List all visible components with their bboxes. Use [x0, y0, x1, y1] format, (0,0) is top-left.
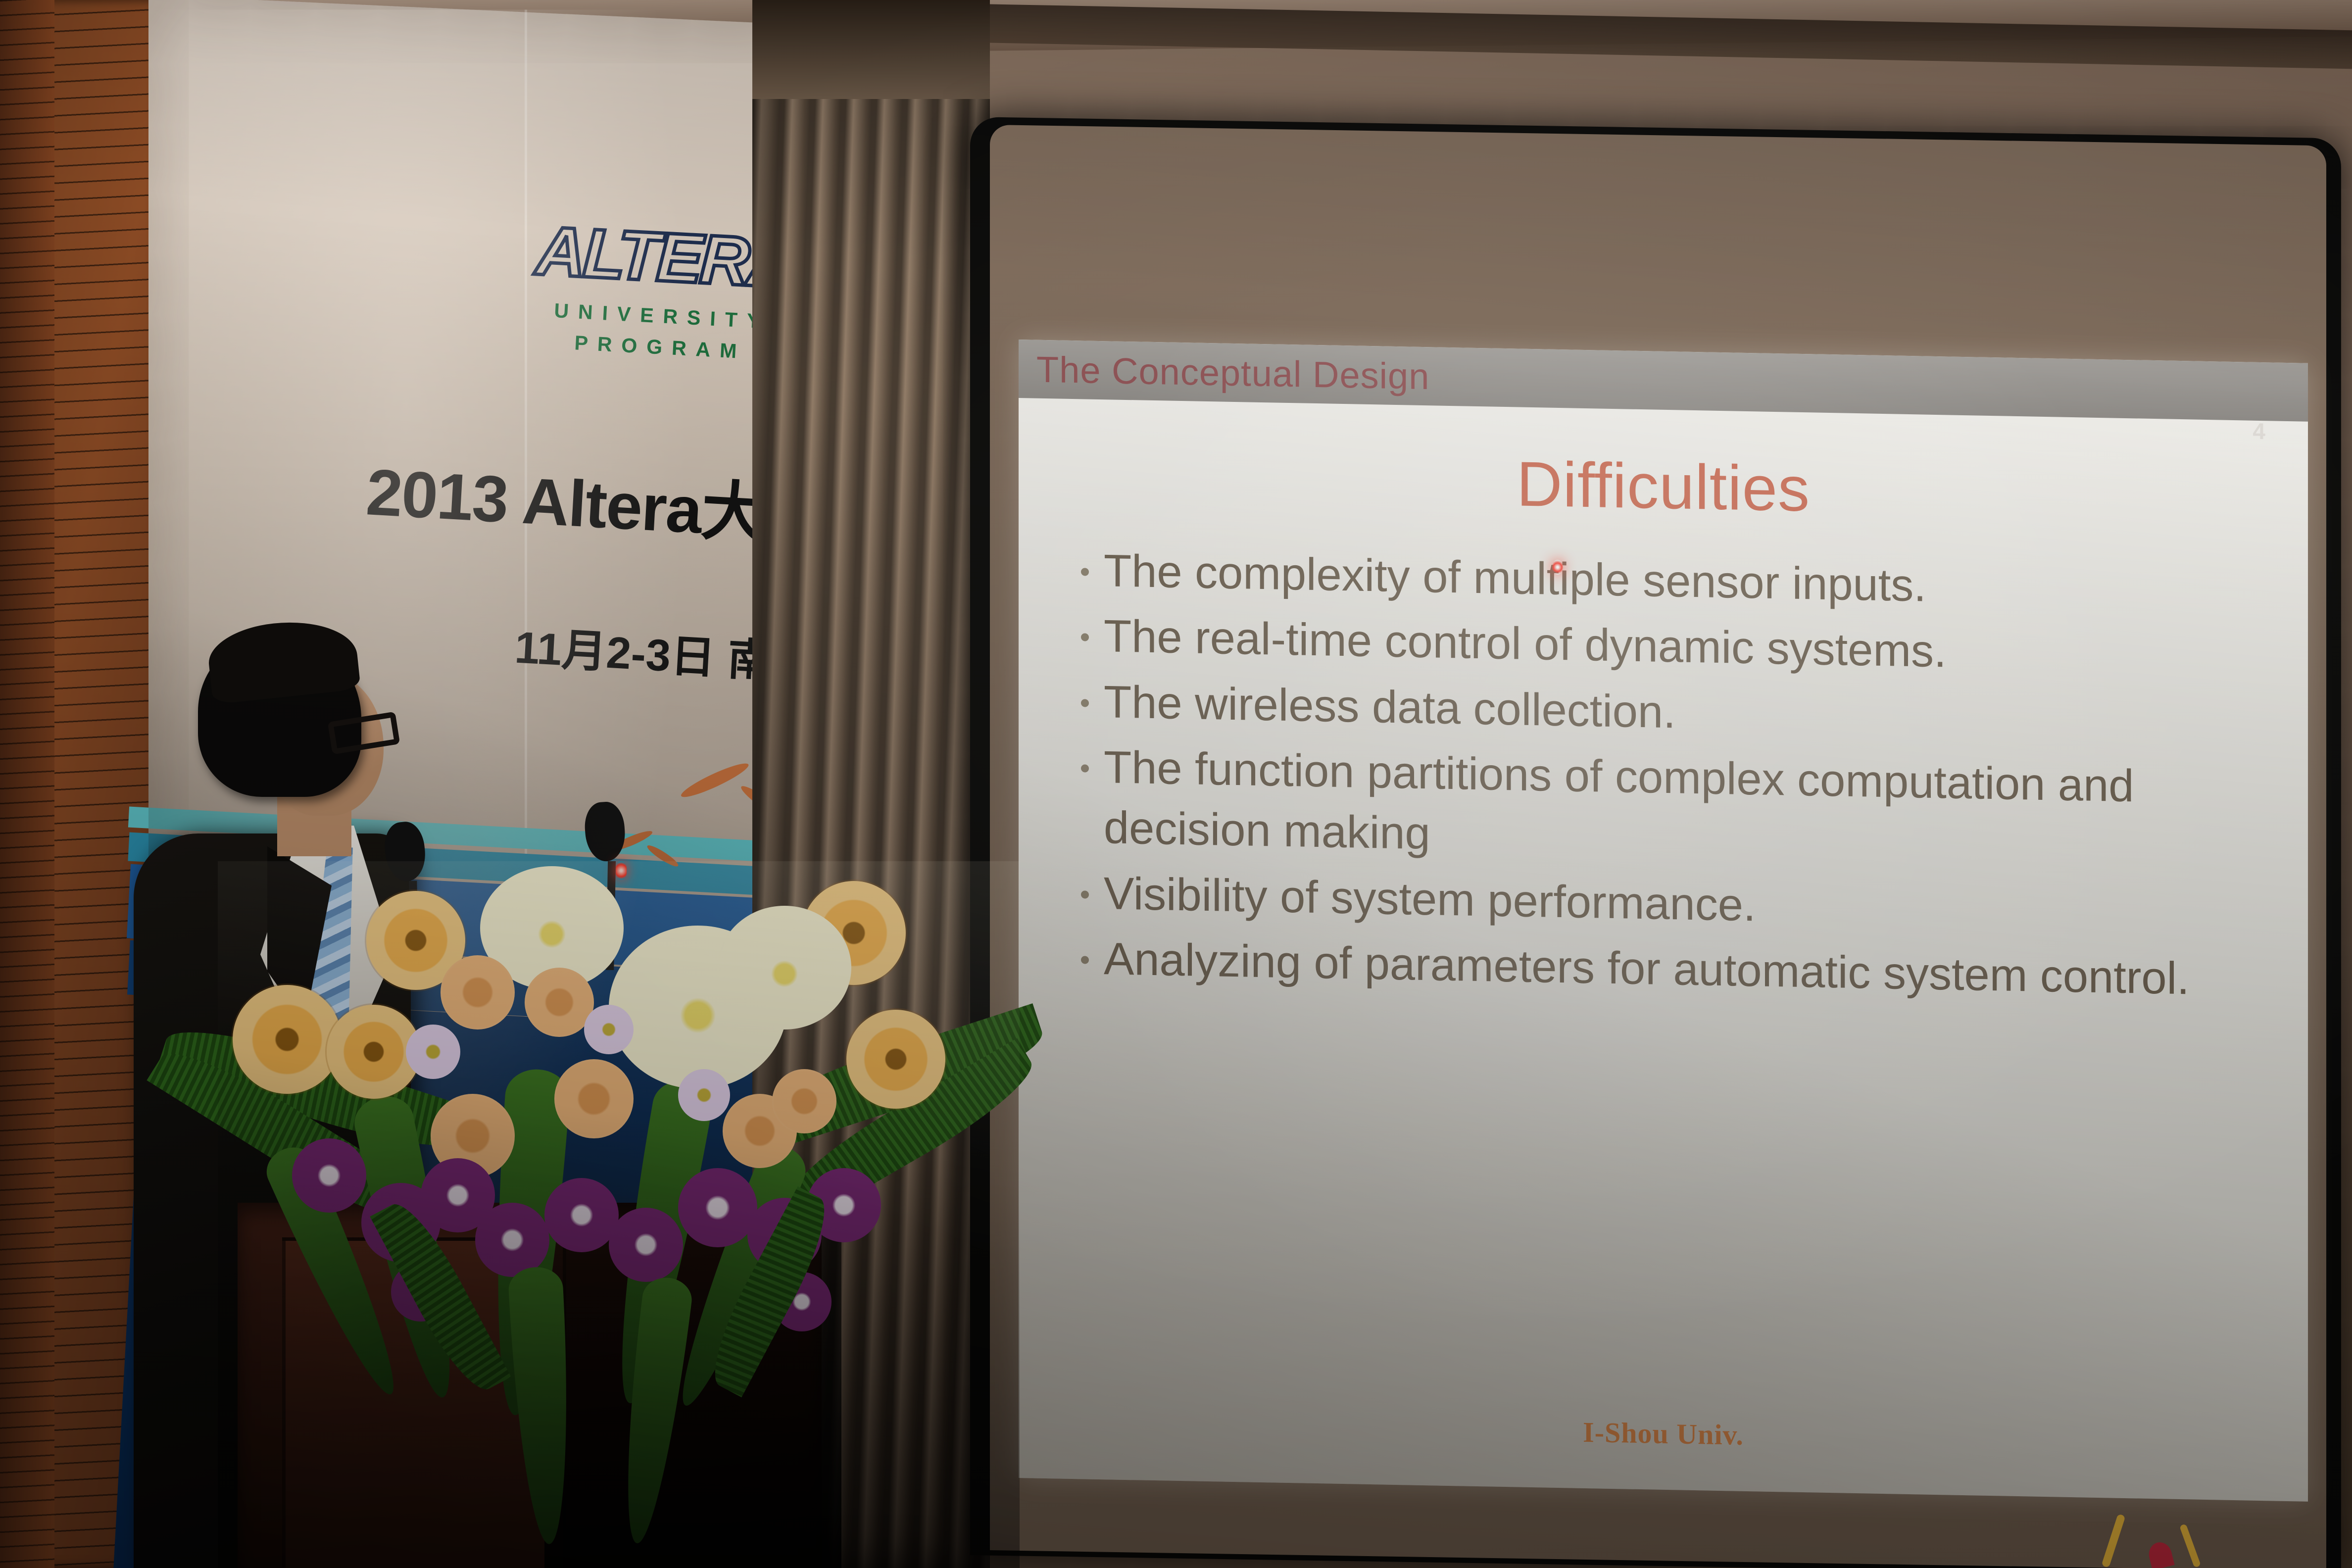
lily-flower: [718, 906, 851, 1029]
orchid-flower: [544, 1178, 619, 1252]
corner-decoration: [2090, 1509, 2189, 1568]
rose-flower: [772, 1069, 836, 1133]
conference-photo-scene: ALTERA UNIVERSITY PROGRAM 2013 Altera大学教…: [0, 0, 2352, 1568]
laser-pointer-dot: [1552, 560, 1563, 575]
wood-slat-wall-edge: [0, 0, 54, 1568]
orchid-flower: [609, 1208, 683, 1282]
rose-flower: [441, 955, 515, 1029]
floral-arrangement: [218, 861, 1020, 1568]
broad-leaf: [507, 1266, 576, 1546]
gerbera-flower: [233, 985, 342, 1094]
daisy-flower: [678, 1069, 730, 1121]
slide-header-title: The Conceptual Design: [1019, 348, 1429, 397]
orchid-flower: [678, 1168, 757, 1247]
daisy-flower: [406, 1025, 460, 1079]
slide-page-number: 4: [2253, 418, 2265, 444]
orchid-flower: [292, 1138, 366, 1213]
list-item: The function partitions of complex compu…: [1078, 736, 2308, 880]
daisy-flower: [584, 1005, 634, 1054]
slide-bullet-list: The complexity of multiple sensor inputs…: [1078, 540, 2308, 1011]
gerbera-flower: [846, 1010, 945, 1109]
slide-title: Difficulties: [1019, 439, 2308, 535]
orchid-flower: [475, 1203, 549, 1277]
floral-shading-overlay: [218, 861, 1020, 1568]
rose-flower: [525, 968, 594, 1037]
curtain-valance: [752, 0, 990, 99]
rose-flower: [554, 1059, 634, 1138]
slide-footer-affiliation: I-Shou Univ.: [1019, 1405, 2308, 1462]
presentation-slide: The Conceptual Design 4 Difficulties The…: [1019, 340, 2308, 1502]
